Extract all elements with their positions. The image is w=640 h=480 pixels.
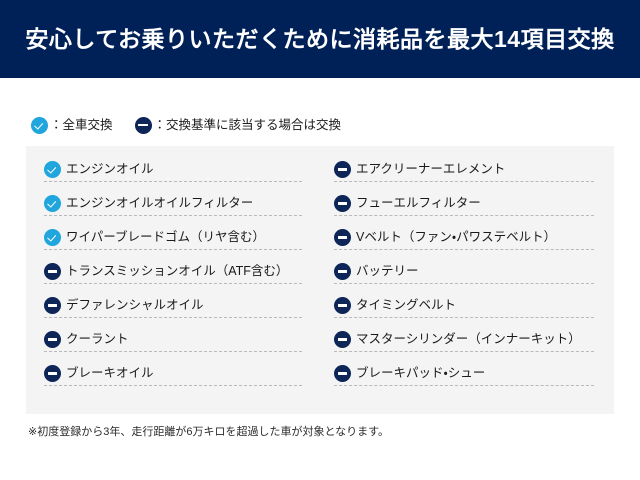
list-item: エンジンオイルオイルフィルター [44,192,302,216]
list-item: ワイパーブレードゴム（リヤ含む） [44,226,302,250]
list-item-label: エンジンオイル [66,163,154,176]
minus-circle-icon [334,195,351,212]
legend-entry-conditional: ：交換基準に該当する場合は交換 [135,117,342,134]
list-item-label: Vベルト（ファン・パワステベルト） [356,231,556,244]
check-circle-icon [44,161,61,178]
minus-circle-icon [334,297,351,314]
list-item-label: ブレーキパッド・シュー [356,367,485,380]
list-item: ブレーキパッド・シュー [334,362,594,386]
minus-circle-icon [44,297,61,314]
list-item-label: マスターシリンダー（インナーキット） [356,333,581,346]
minus-circle-icon [135,117,152,134]
list-item-label: エアクリーナーエレメント [356,163,505,176]
legend-entry-all-vehicles: ：全車交換 [31,117,113,134]
list-item: Vベルト（ファン・パワステベルト） [334,226,594,250]
consumable-replacement-infographic: 安心してお乗りいただくために消耗品を最大14項目交換 ：全車交換 ：交換基準に該… [0,0,640,480]
list-item: トランスミッションオイル（ATF含む） [44,260,302,284]
list-item: フューエルフィルター [334,192,594,216]
list-item-label: デファレンシャルオイル [66,299,204,312]
list-item-label: フューエルフィルター [356,197,481,210]
minus-circle-icon [334,161,351,178]
footnote: ※初度登録から3年、走行距離が6万キロを超過した車が対象となります。 [28,427,389,438]
items-panel: エンジンオイル エンジンオイルオイルフィルター ワイパーブレードゴム（リヤ含む）… [26,146,614,414]
items-columns: エンジンオイル エンジンオイルオイルフィルター ワイパーブレードゴム（リヤ含む）… [26,146,614,414]
legend-label-all-vehicles: ：全車交換 [50,119,113,132]
list-item-label: クーラント [66,333,129,346]
list-item: バッテリー [334,260,594,284]
list-item: ブレーキオイル [44,362,302,386]
list-item-label: トランスミッションオイル（ATF含む） [66,265,288,278]
list-item: エアクリーナーエレメント [334,158,594,182]
items-column-left: エンジンオイル エンジンオイルオイルフィルター ワイパーブレードゴム（リヤ含む）… [26,146,320,414]
list-item: タイミングベルト [334,294,594,318]
legend-label-conditional: ：交換基準に該当する場合は交換 [154,119,342,132]
minus-circle-icon [334,331,351,348]
list-item-label: バッテリー [356,265,419,278]
minus-circle-icon [334,263,351,280]
items-column-right: エアクリーナーエレメント フューエルフィルター Vベルト（ファン・パワステベルト… [320,146,614,414]
check-circle-icon [44,229,61,246]
minus-circle-icon [44,365,61,382]
page-title: 安心してお乗りいただくために消耗品を最大14項目交換 [25,28,614,51]
list-item: クーラント [44,328,302,352]
list-item: マスターシリンダー（インナーキット） [334,328,594,352]
list-item: デファレンシャルオイル [44,294,302,318]
minus-circle-icon [44,263,61,280]
list-item-label: ワイパーブレードゴム（リヤ含む） [66,231,265,244]
list-item-label: エンジンオイルオイルフィルター [66,197,253,210]
header-bar: 安心してお乗りいただくために消耗品を最大14項目交換 [0,0,640,78]
minus-circle-icon [334,229,351,246]
minus-circle-icon [44,331,61,348]
list-item-label: ブレーキオイル [66,367,154,380]
minus-circle-icon [334,365,351,382]
check-circle-icon [44,195,61,212]
check-circle-icon [31,117,48,134]
list-item: エンジンオイル [44,158,302,182]
legend: ：全車交換 ：交換基準に該当する場合は交換 [31,112,341,138]
list-item-label: タイミングベルト [356,299,456,312]
